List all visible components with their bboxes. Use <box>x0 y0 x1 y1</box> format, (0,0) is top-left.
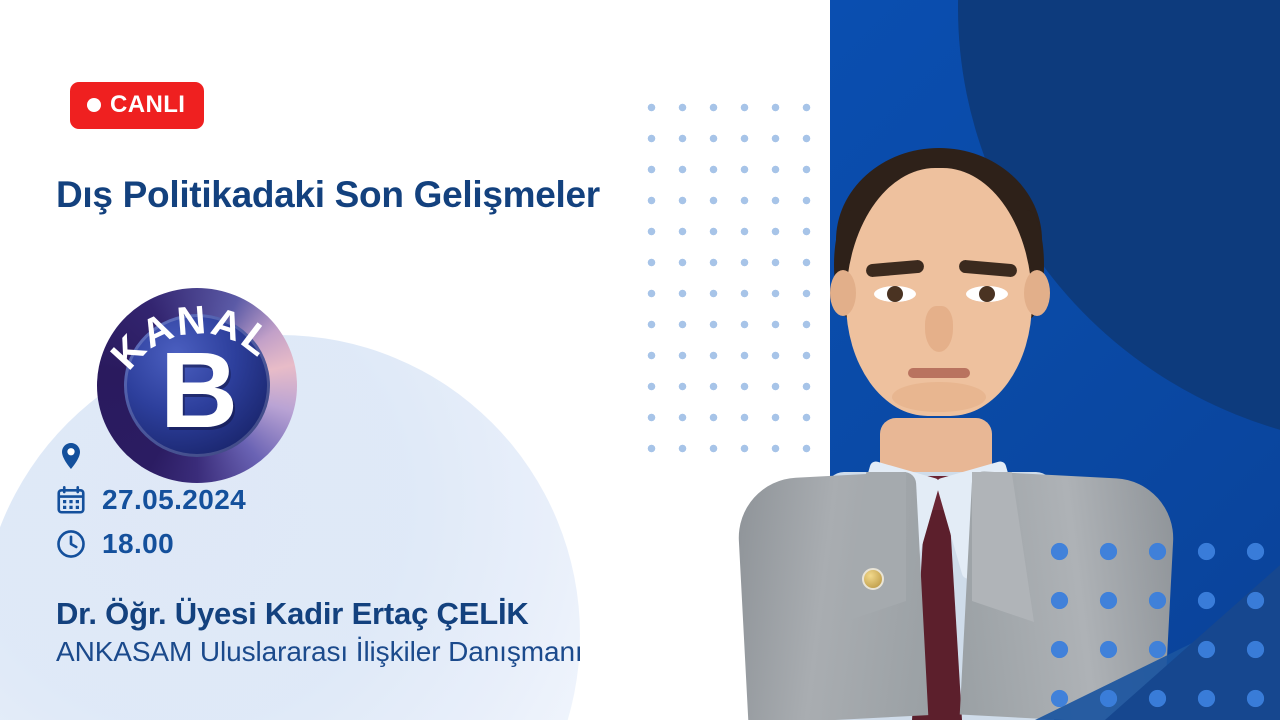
speaker-block: Dr. Öğr. Üyesi Kadir Ertaç ÇELİK ANKASAM… <box>56 596 583 668</box>
portrait-ear-left <box>830 270 856 316</box>
portrait-chin-shadow <box>892 382 986 412</box>
portrait-nose <box>925 306 953 352</box>
meta-date-value: 27.05.2024 <box>102 484 246 516</box>
portrait-lapel-pin-icon <box>862 568 884 590</box>
live-badge-label: CANLI <box>110 91 185 119</box>
event-meta: 27.05.2024 18.00 <box>56 436 246 568</box>
live-broadcast-poster: CANLI Dış Politikadaki Son Gelişmeler B … <box>0 0 1280 720</box>
portrait-iris-right <box>979 286 995 302</box>
location-pin-icon <box>56 441 86 471</box>
live-dot-icon <box>87 98 101 112</box>
portrait-ear-right <box>1024 270 1050 316</box>
meta-row-date: 27.05.2024 <box>56 480 246 520</box>
speaker-role: ANKASAM Uluslararası İlişkiler Danışmanı <box>56 636 583 668</box>
meta-row-location <box>56 436 246 476</box>
portrait-mouth <box>908 368 970 378</box>
page-title: Dış Politikadaki Son Gelişmeler <box>56 174 600 216</box>
decorative-dot-grid-right <box>1035 527 1280 720</box>
meta-time-value: 18.00 <box>102 528 174 560</box>
clock-icon <box>56 529 86 559</box>
calendar-icon <box>56 485 86 515</box>
speaker-name: Dr. Öğr. Üyesi Kadir Ertaç ÇELİK <box>56 596 583 632</box>
portrait-iris-left <box>887 286 903 302</box>
svg-text:KANAL: KANAL <box>103 298 281 378</box>
meta-row-time: 18.00 <box>56 524 246 564</box>
logo-arc-label: KANAL <box>103 298 281 378</box>
live-badge[interactable]: CANLI <box>70 82 204 129</box>
